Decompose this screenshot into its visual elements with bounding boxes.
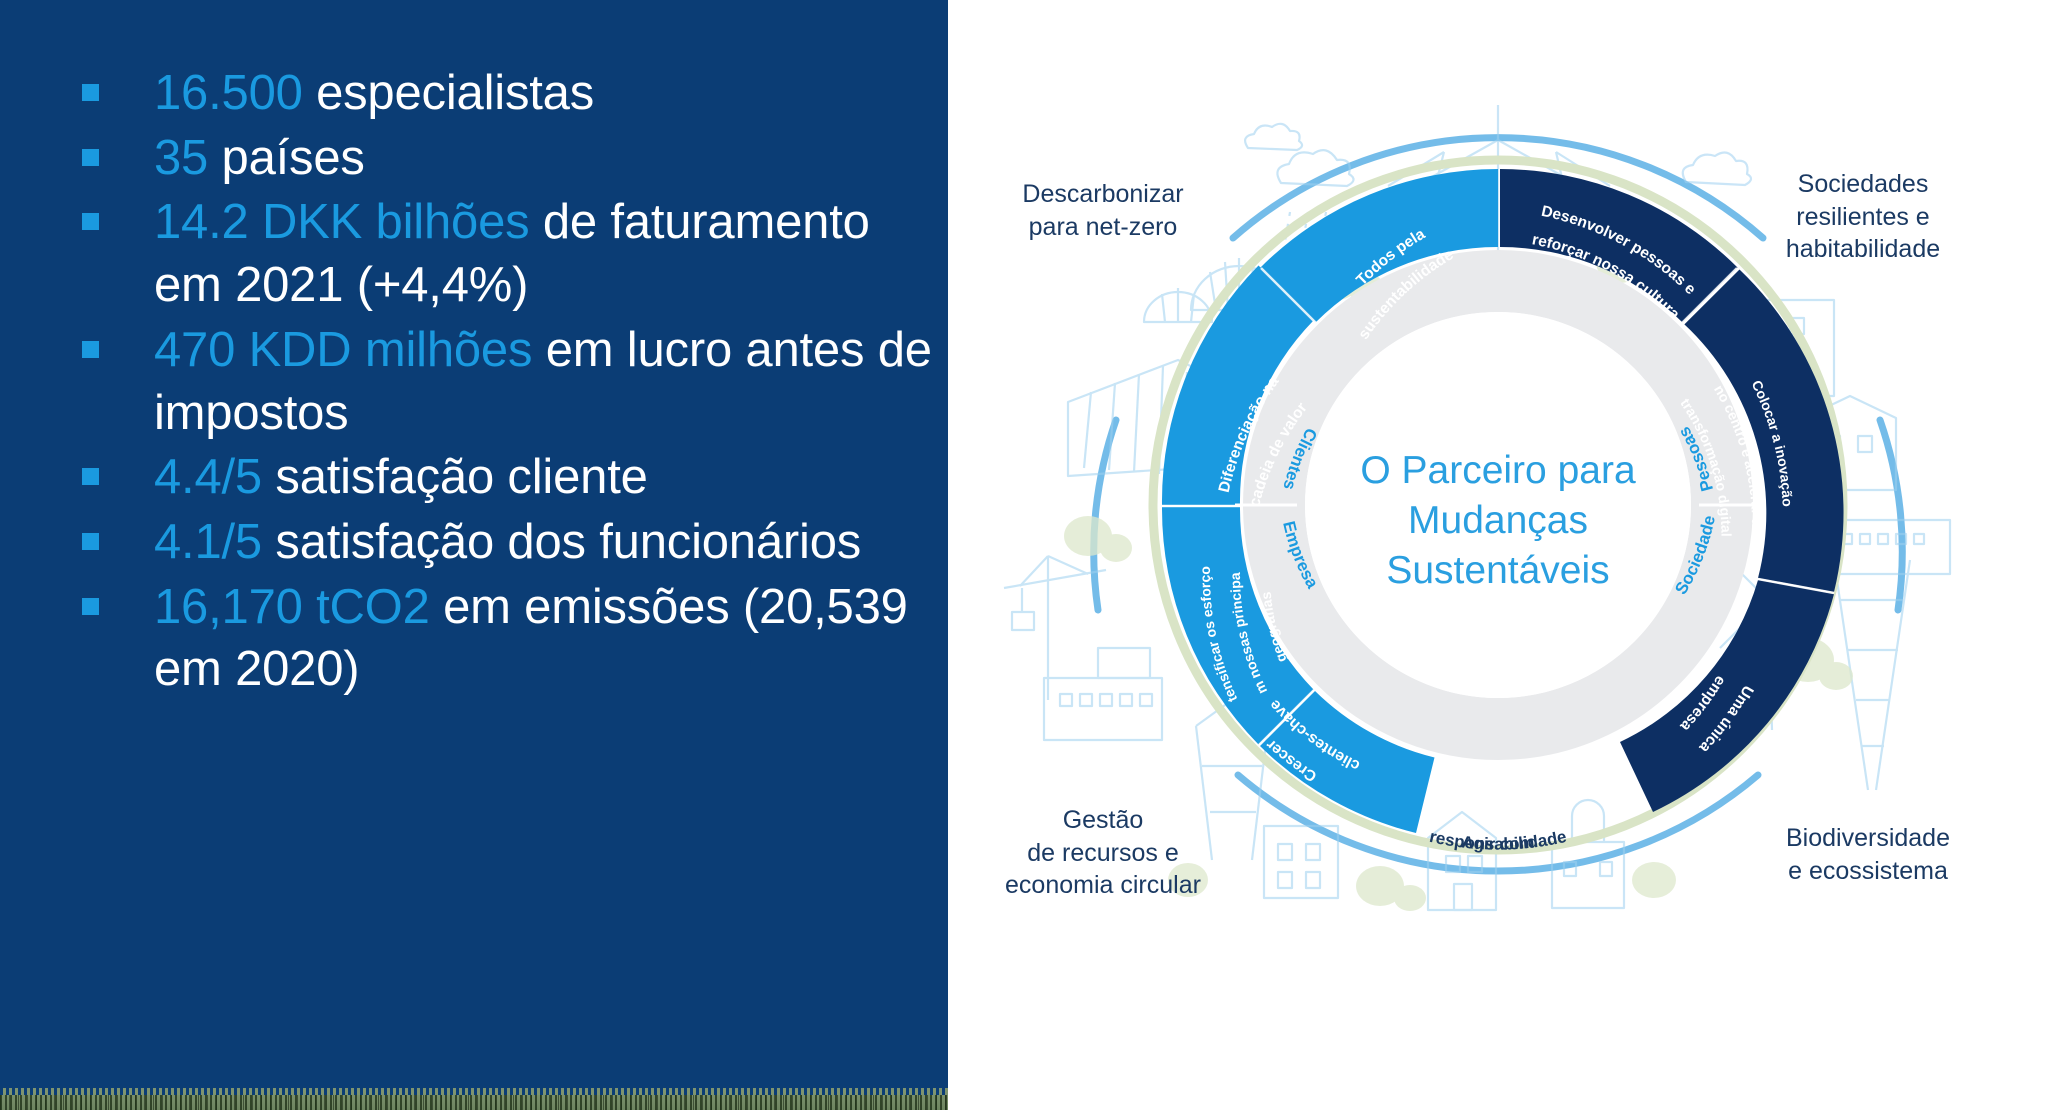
square-bullet-icon <box>82 533 99 550</box>
list-item: 16.500 especialistas <box>72 62 932 125</box>
list-item: 16,170 tCO2 em emissões (20,539 em 2020) <box>72 576 932 701</box>
list-item: 470 KDD milhões em lucro antes de impost… <box>72 319 932 444</box>
outer-label-gestao-recursos: Gestão de recursos e economia circular <box>968 804 1238 902</box>
sustainability-wheel-diagram: Todos pela sustentabilidade Diferenciaçã… <box>948 0 2048 1110</box>
square-bullet-icon <box>82 149 99 166</box>
wheel-svg: Todos pela sustentabilidade Diferenciaçã… <box>948 0 2048 1110</box>
slide-root: 16.500 especialistas 35 países 14.2 DKK … <box>0 0 2048 1110</box>
list-item: 14.2 DKK bilhões de faturamento em 2021 … <box>72 191 932 316</box>
grass-texture-strip <box>0 1088 948 1110</box>
square-bullet-icon <box>82 341 99 358</box>
key-figures-list: 16.500 especialistas 35 países 14.2 DKK … <box>72 62 932 703</box>
outer-label-descarbonizar: Descarbonizar para net-zero <box>978 178 1228 243</box>
left-stats-panel: 16.500 especialistas 35 países 14.2 DKK … <box>0 0 948 1110</box>
list-item: 35 países <box>72 127 932 190</box>
center-title-line-3: Sustentáveis <box>1386 549 1609 592</box>
stat-value: 35 <box>154 131 208 185</box>
stat-value: 4.1/5 <box>154 515 262 569</box>
stat-label: satisfação dos funcionários <box>262 515 861 569</box>
stat-label: países <box>208 131 365 185</box>
stat-label: especialistas <box>303 66 594 120</box>
outer-label-sociedades-resilientes: Sociedades resilientes e habitabilidade <box>1738 168 1988 266</box>
stat-value: 16.500 <box>154 66 303 120</box>
center-title-line-2: Mudanças <box>1408 499 1588 542</box>
square-bullet-icon <box>82 213 99 230</box>
square-bullet-icon <box>82 598 99 615</box>
list-item: 4.4/5 satisfação cliente <box>72 446 932 509</box>
stat-label: satisfação cliente <box>262 450 648 504</box>
center-title-line-1: O Parceiro para <box>1360 449 1636 492</box>
square-bullet-icon <box>82 468 99 485</box>
stat-value: 4.4/5 <box>154 450 262 504</box>
list-item: 4.1/5 satisfação dos funcionários <box>72 511 932 574</box>
stat-value: 470 KDD milhões <box>154 323 532 377</box>
outer-label-biodiversidade: Biodiversidade e ecossistema <box>1738 822 1998 887</box>
square-bullet-icon <box>82 84 99 101</box>
stat-value: 14.2 DKK bilhões <box>154 195 529 249</box>
stat-value: 16,170 tCO2 <box>154 580 430 634</box>
